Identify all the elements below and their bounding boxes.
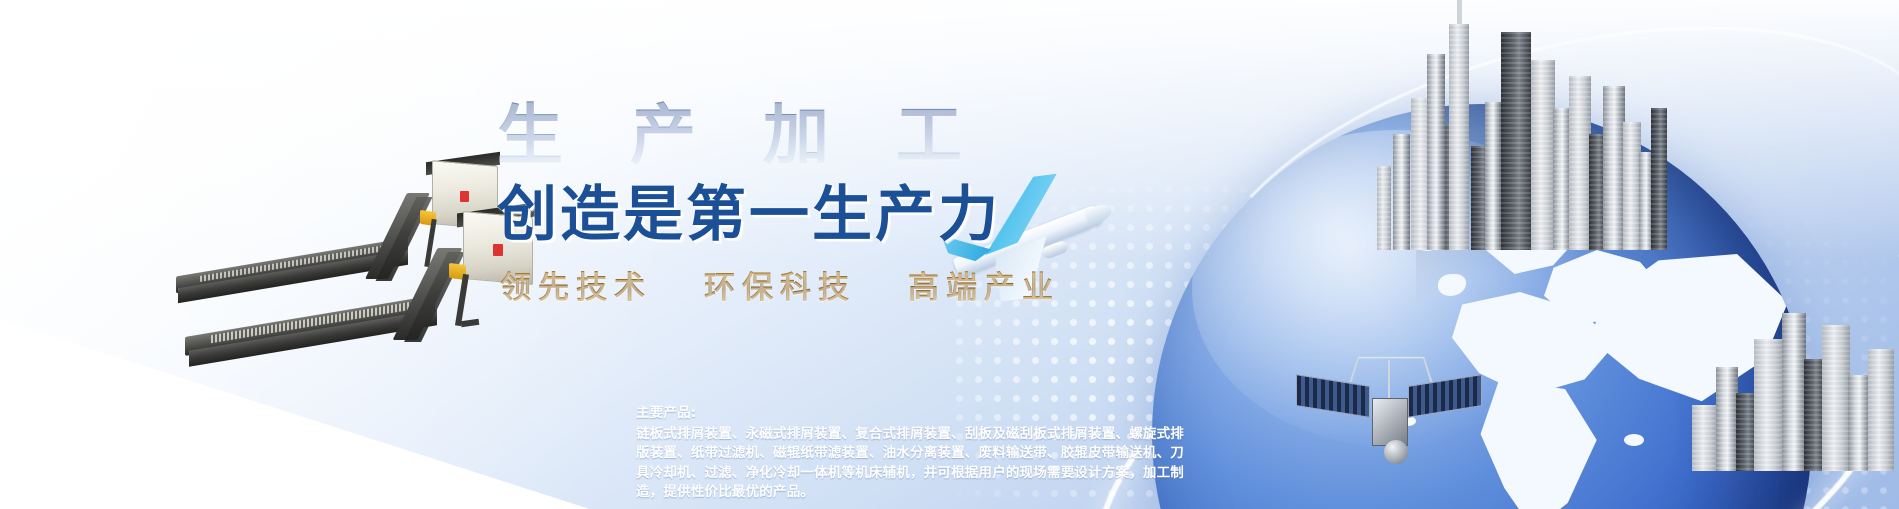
- banner-text-layer: 生 产 加 工 创造是第一生产力 领先技术 环保科技 高端产业 主要产品: 链板…: [0, 0, 1899, 509]
- banner-tagline-group: 领先技术 环保科技 高端产业: [500, 262, 1060, 307]
- tagline-item-3: 高端产业: [908, 262, 1060, 307]
- tagline-item-2: 环保科技: [704, 262, 856, 307]
- product-list-body: 链板式排屑装置、永磁式排屑装置、复合式排屑装置、刮板及磁刮板式排屑装置、螺旋式排…: [636, 426, 1184, 501]
- banner-subheadline: 创造是第一生产力: [497, 166, 1001, 253]
- product-list-title: 主要产品:: [636, 404, 1196, 424]
- banner-headline: 生 产 加 工: [497, 82, 984, 178]
- tagline-item-1: 领先技术: [500, 262, 652, 307]
- product-description-block: 主要产品: 链板式排屑装置、永磁式排屑装置、复合式排屑装置、刮板及磁刮板式排屑装…: [636, 404, 1196, 503]
- promo-banner: 生 产 加 工 创造是第一生产力 领先技术 环保科技 高端产业 主要产品: 链板…: [0, 0, 1899, 509]
